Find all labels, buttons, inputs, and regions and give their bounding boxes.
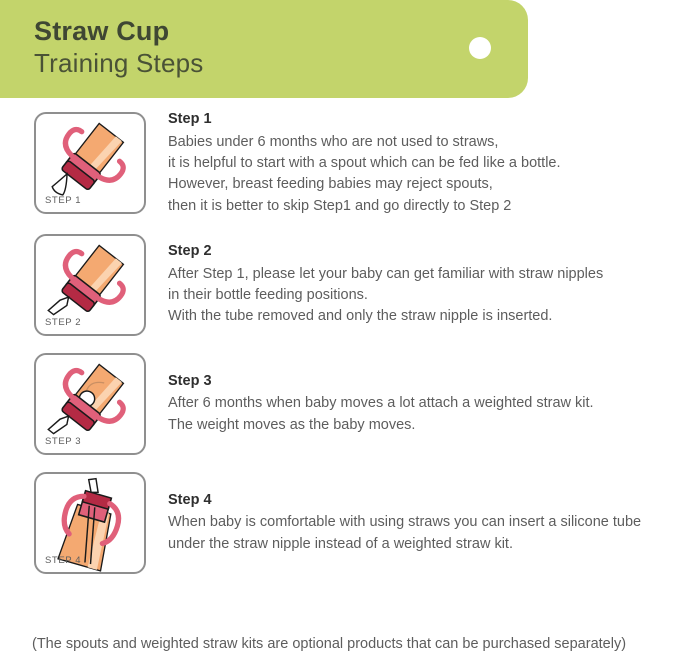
header-banner: Straw Cup Training Steps: [0, 0, 528, 98]
step-3-figure: STEP 3: [34, 353, 146, 455]
step-4-figure-label: STEP 4: [45, 555, 81, 566]
step-1-figure: STEP 1: [34, 112, 146, 214]
step-1-line: it is helpful to start with a spout whic…: [168, 153, 675, 174]
step-2-line: With the tube removed and only the straw…: [168, 306, 675, 327]
step-3-line: The weight moves as the baby moves.: [168, 415, 675, 436]
footer-note: (The spouts and weighted straw kits are …: [32, 636, 626, 652]
step-row: STEP 1 Step 1 Babies under 6 months who …: [0, 110, 679, 217]
step-row: STEP 2 Step 2 After Step 1, please let y…: [0, 234, 679, 336]
step-3-figure-label: STEP 3: [45, 436, 81, 447]
step-3-title: Step 3: [168, 372, 675, 392]
step-4-figure: STEP 4: [34, 472, 146, 574]
step-row: STEP 4 Step 4 When baby is comfortable w…: [0, 472, 679, 574]
punch-hole-icon: [469, 37, 491, 59]
step-1-title: Step 1: [168, 110, 675, 130]
step-2-title: Step 2: [168, 242, 675, 262]
step-3-line: After 6 months when baby moves a lot att…: [168, 393, 675, 414]
step-row: STEP 3 Step 3 After 6 months when baby m…: [0, 353, 679, 455]
step-4-title: Step 4: [168, 491, 675, 511]
step-2-line: in their bottle feeding positions.: [168, 285, 675, 306]
step-1-figure-label: STEP 1: [45, 195, 81, 206]
step-1-line: Babies under 6 months who are not used t…: [168, 132, 675, 153]
step-2-line: After Step 1, please let your baby can g…: [168, 264, 675, 285]
steps-list: STEP 1 Step 1 Babies under 6 months who …: [0, 110, 679, 591]
step-4-line: When baby is comfortable with using stra…: [168, 512, 675, 533]
page-title: Straw Cup: [34, 17, 169, 45]
page-subtitle: Training Steps: [34, 50, 203, 77]
step-4-text: Step 4 When baby is comfortable with usi…: [146, 491, 679, 555]
step-1-line: However, breast feeding babies may rejec…: [168, 174, 675, 195]
step-2-figure-label: STEP 2: [45, 317, 81, 328]
step-2-figure: STEP 2: [34, 234, 146, 336]
step-1-text: Step 1 Babies under 6 months who are not…: [146, 110, 679, 217]
step-2-text: Step 2 After Step 1, please let your bab…: [146, 242, 679, 328]
step-1-line: then it is better to skip Step1 and go d…: [168, 196, 675, 217]
step-4-line: under the straw nipple instead of a weig…: [168, 534, 675, 555]
step-3-text: Step 3 After 6 months when baby moves a …: [146, 372, 679, 436]
